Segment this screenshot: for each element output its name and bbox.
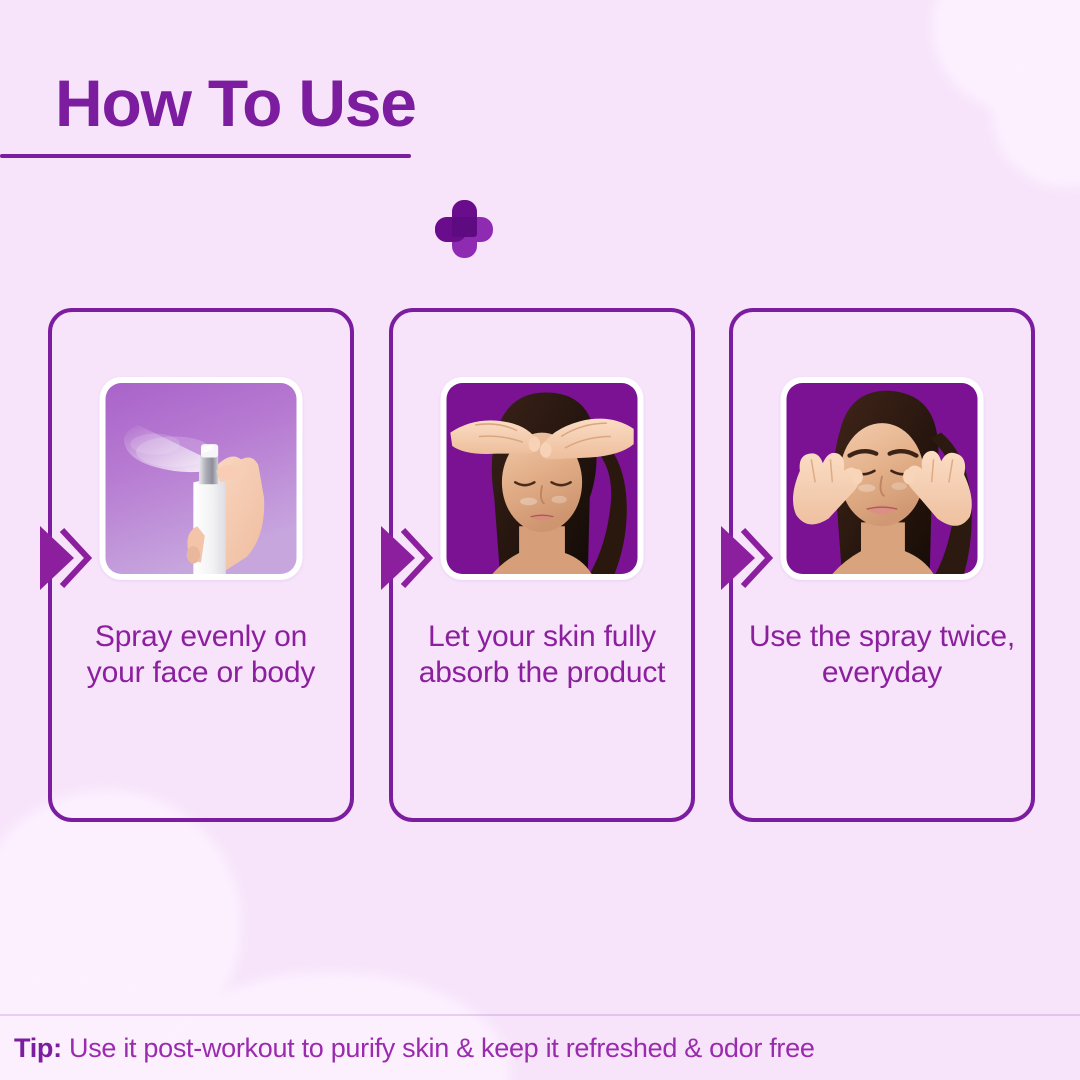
spray-bottle-in-hand-photo [106,383,297,574]
how-to-use-infographic: How To Use [0,0,1080,1080]
title-underline-rule [0,154,411,158]
plus-cross-icon [435,200,493,258]
step-3-caption: Use the spray twice, everyday [747,619,1017,691]
step-2-image-frame [441,377,644,580]
tip-body: Use it post-workout to purify skin & kee… [69,1033,815,1063]
page-title: How To Use [55,70,416,136]
tip-label: Tip: [14,1033,62,1063]
step-card-1[interactable]: Spray evenly on your face or body [48,308,354,822]
step-3-image-frame [781,377,984,580]
step-2-caption: Let your skin fully absorb the product [407,619,677,691]
woman-massaging-cheeks-photo [787,383,978,574]
tip-bar: Tip: Use it post-workout to purify skin … [0,1016,1080,1080]
step-1-image-frame [100,377,303,580]
plus-center [452,217,477,237]
step-card-3[interactable]: Use the spray twice, everyday [729,308,1035,822]
step-arrow-3 [717,520,773,596]
woman-applying-to-forehead-photo [447,383,638,574]
steps-row: Spray evenly on your face or body [0,308,1080,826]
step-arrow-1 [36,520,92,596]
step-card-2[interactable]: Let your skin fully absorb the product [389,308,695,822]
step-arrow-2 [377,520,433,596]
step-1-caption: Spray evenly on your face or body [66,619,336,691]
header: How To Use [0,66,1080,226]
tip-text: Tip: Use it post-workout to purify skin … [14,1033,815,1064]
